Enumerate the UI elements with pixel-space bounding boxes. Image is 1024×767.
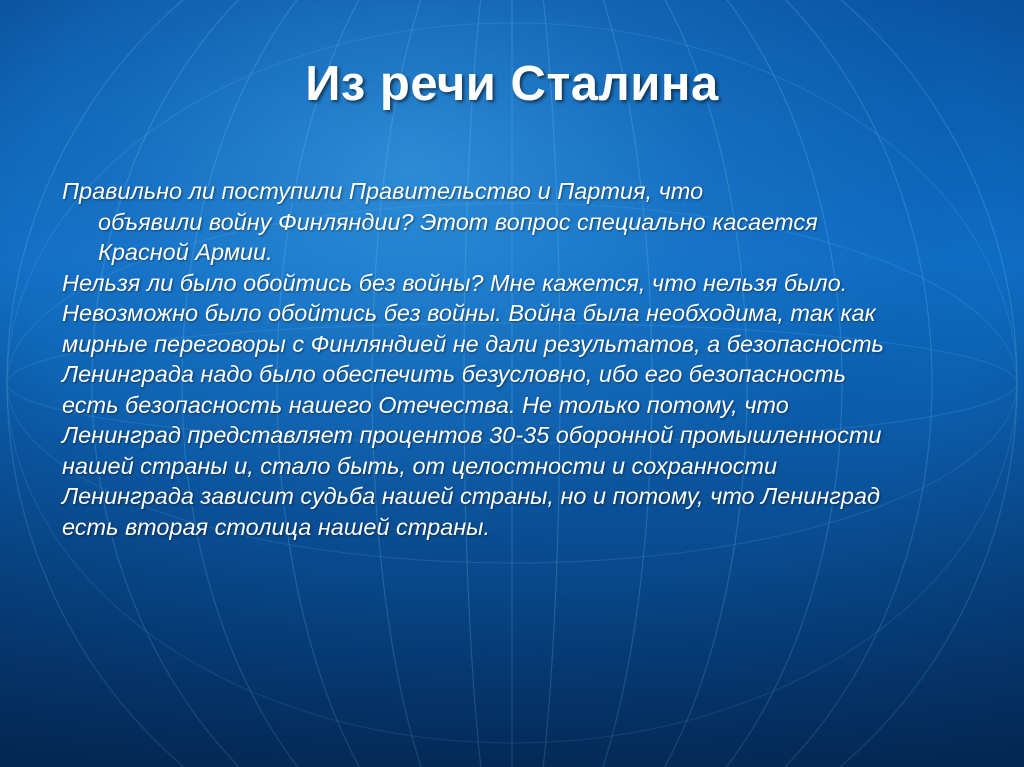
body-paragraph-1: Правильно ли поступили Правительство и П… (62, 176, 892, 207)
body-paragraph-3: Нельзя ли было обойтись без войны? Мне к… (62, 268, 892, 543)
slide-title: Из речи Сталина (0, 56, 1024, 112)
body-paragraph-2: объявили войну Финляндии? Этот вопрос сп… (62, 207, 892, 268)
presentation-slide: Из речи Сталина Правильно ли поступили П… (0, 0, 1024, 767)
slide-body: Правильно ли поступили Правительство и П… (62, 176, 892, 542)
